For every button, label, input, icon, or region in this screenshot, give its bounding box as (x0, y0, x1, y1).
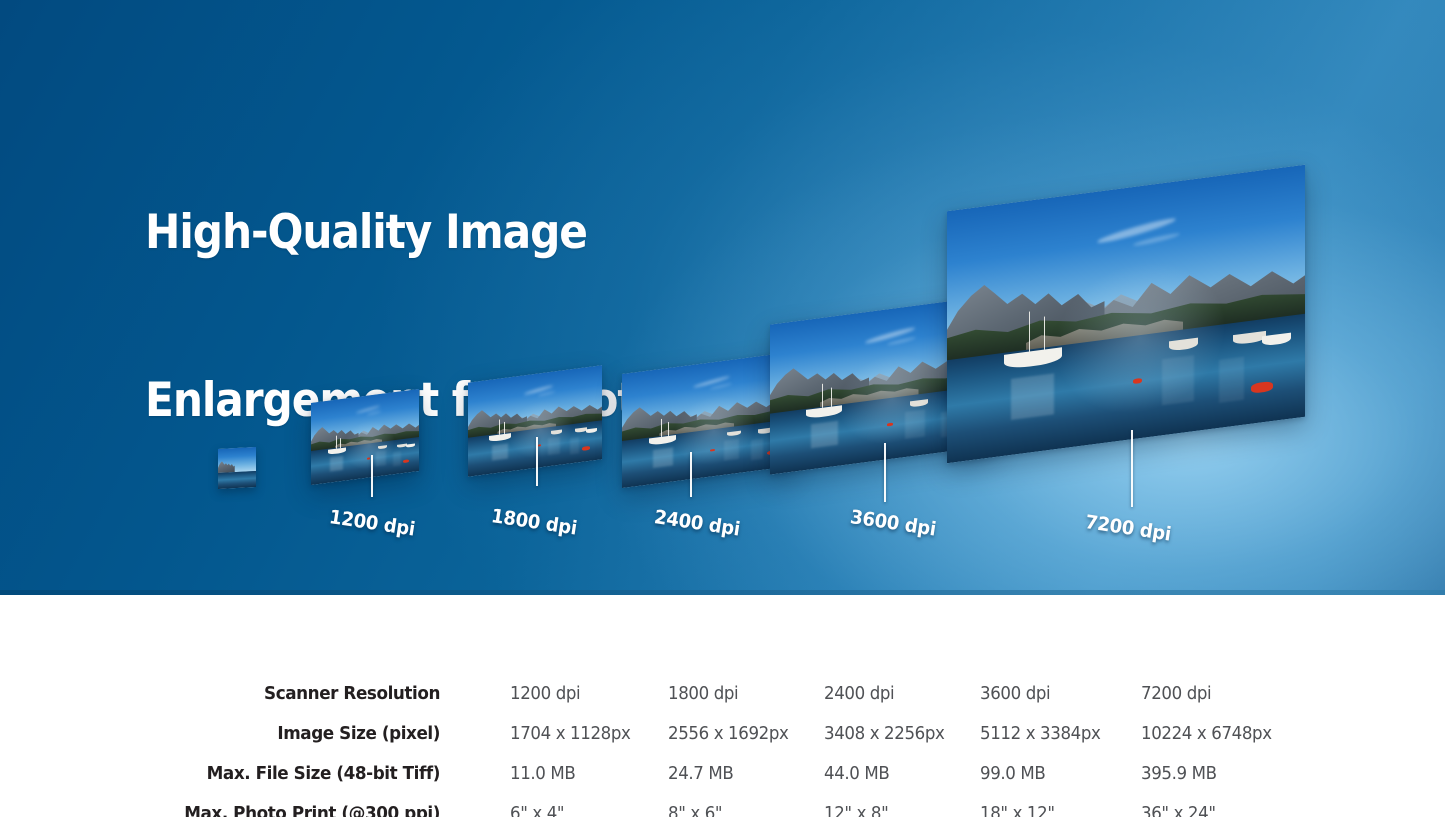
cell-1800-resolution: 1800 dpi (668, 684, 738, 704)
row-label-image-size: Image Size (pixel) (37, 724, 440, 744)
specs-section: Scanner Resolution Image Size (pixel) Ma… (0, 595, 1445, 817)
enlargement-image-stack: 1200 dpi 1800 dpi 2400 dpi 3600 dpi 7200… (0, 0, 1445, 595)
cell-7200-image-size: 10224 x 6748px (1141, 724, 1272, 744)
cell-1800-file-size: 24.7 MB (668, 764, 733, 784)
hero-banner: High-Quality Image Enlargement for Photo… (0, 0, 1445, 595)
dpi-label-7200: 7200 dpi (1084, 511, 1173, 546)
cell-1200-image-size: 1704 x 1128px (510, 724, 630, 744)
cell-1200-file-size: 11.0 MB (510, 764, 575, 784)
cell-2400-photo-print: 12" x 8" (824, 804, 888, 817)
photo-7200dpi (947, 165, 1305, 463)
dpi-label-2400: 2400 dpi (653, 506, 742, 541)
cell-2400-file-size: 44.0 MB (824, 764, 889, 784)
photo-frame-7200dpi (947, 165, 1305, 463)
cell-3600-file-size: 99.0 MB (980, 764, 1045, 784)
dpi-label-3600: 3600 dpi (849, 506, 938, 541)
leader-line-3600dpi (884, 443, 886, 502)
cell-3600-image-size: 5112 x 3384px (980, 724, 1100, 744)
cell-7200-file-size: 395.9 MB (1141, 764, 1217, 784)
cell-2400-image-size: 3408 x 2256px (824, 724, 944, 744)
dpi-label-1200: 1200 dpi (328, 506, 417, 541)
photo-1200dpi (311, 389, 419, 485)
photo-frame-1200dpi (311, 389, 419, 485)
photo-2400dpi (622, 352, 792, 488)
dpi-label-1800: 1800 dpi (490, 505, 579, 540)
row-label-scanner-resolution: Scanner Resolution (37, 684, 440, 704)
cell-2400-resolution: 2400 dpi (824, 684, 894, 704)
leader-line-7200dpi (1131, 430, 1133, 507)
photo-thumbnail-original (218, 447, 256, 489)
photo-frame-1800dpi (468, 365, 602, 476)
photo-frame-original (218, 447, 256, 489)
cell-7200-resolution: 7200 dpi (1141, 684, 1211, 704)
row-label-max-file-size: Max. File Size (48-bit Tiff) (37, 764, 440, 784)
leader-line-1800dpi (536, 437, 538, 486)
photo-frame-2400dpi (622, 352, 792, 488)
cell-3600-photo-print: 18" x 12" (980, 804, 1055, 817)
cell-3600-resolution: 3600 dpi (980, 684, 1050, 704)
cell-1800-photo-print: 8" x 6" (668, 804, 722, 817)
leader-line-2400dpi (690, 452, 692, 497)
row-label-max-photo-print: Max. Photo Print (@300 ppi) (37, 804, 440, 817)
cell-7200-photo-print: 36" x 24" (1141, 804, 1216, 817)
photo-1800dpi (468, 365, 602, 476)
cell-1200-resolution: 1200 dpi (510, 684, 580, 704)
cell-1200-photo-print: 6" x 4" (510, 804, 564, 817)
infographic-page: High-Quality Image Enlargement for Photo… (0, 0, 1445, 817)
cell-1800-image-size: 2556 x 1692px (668, 724, 788, 744)
leader-line-1200dpi (371, 455, 373, 497)
